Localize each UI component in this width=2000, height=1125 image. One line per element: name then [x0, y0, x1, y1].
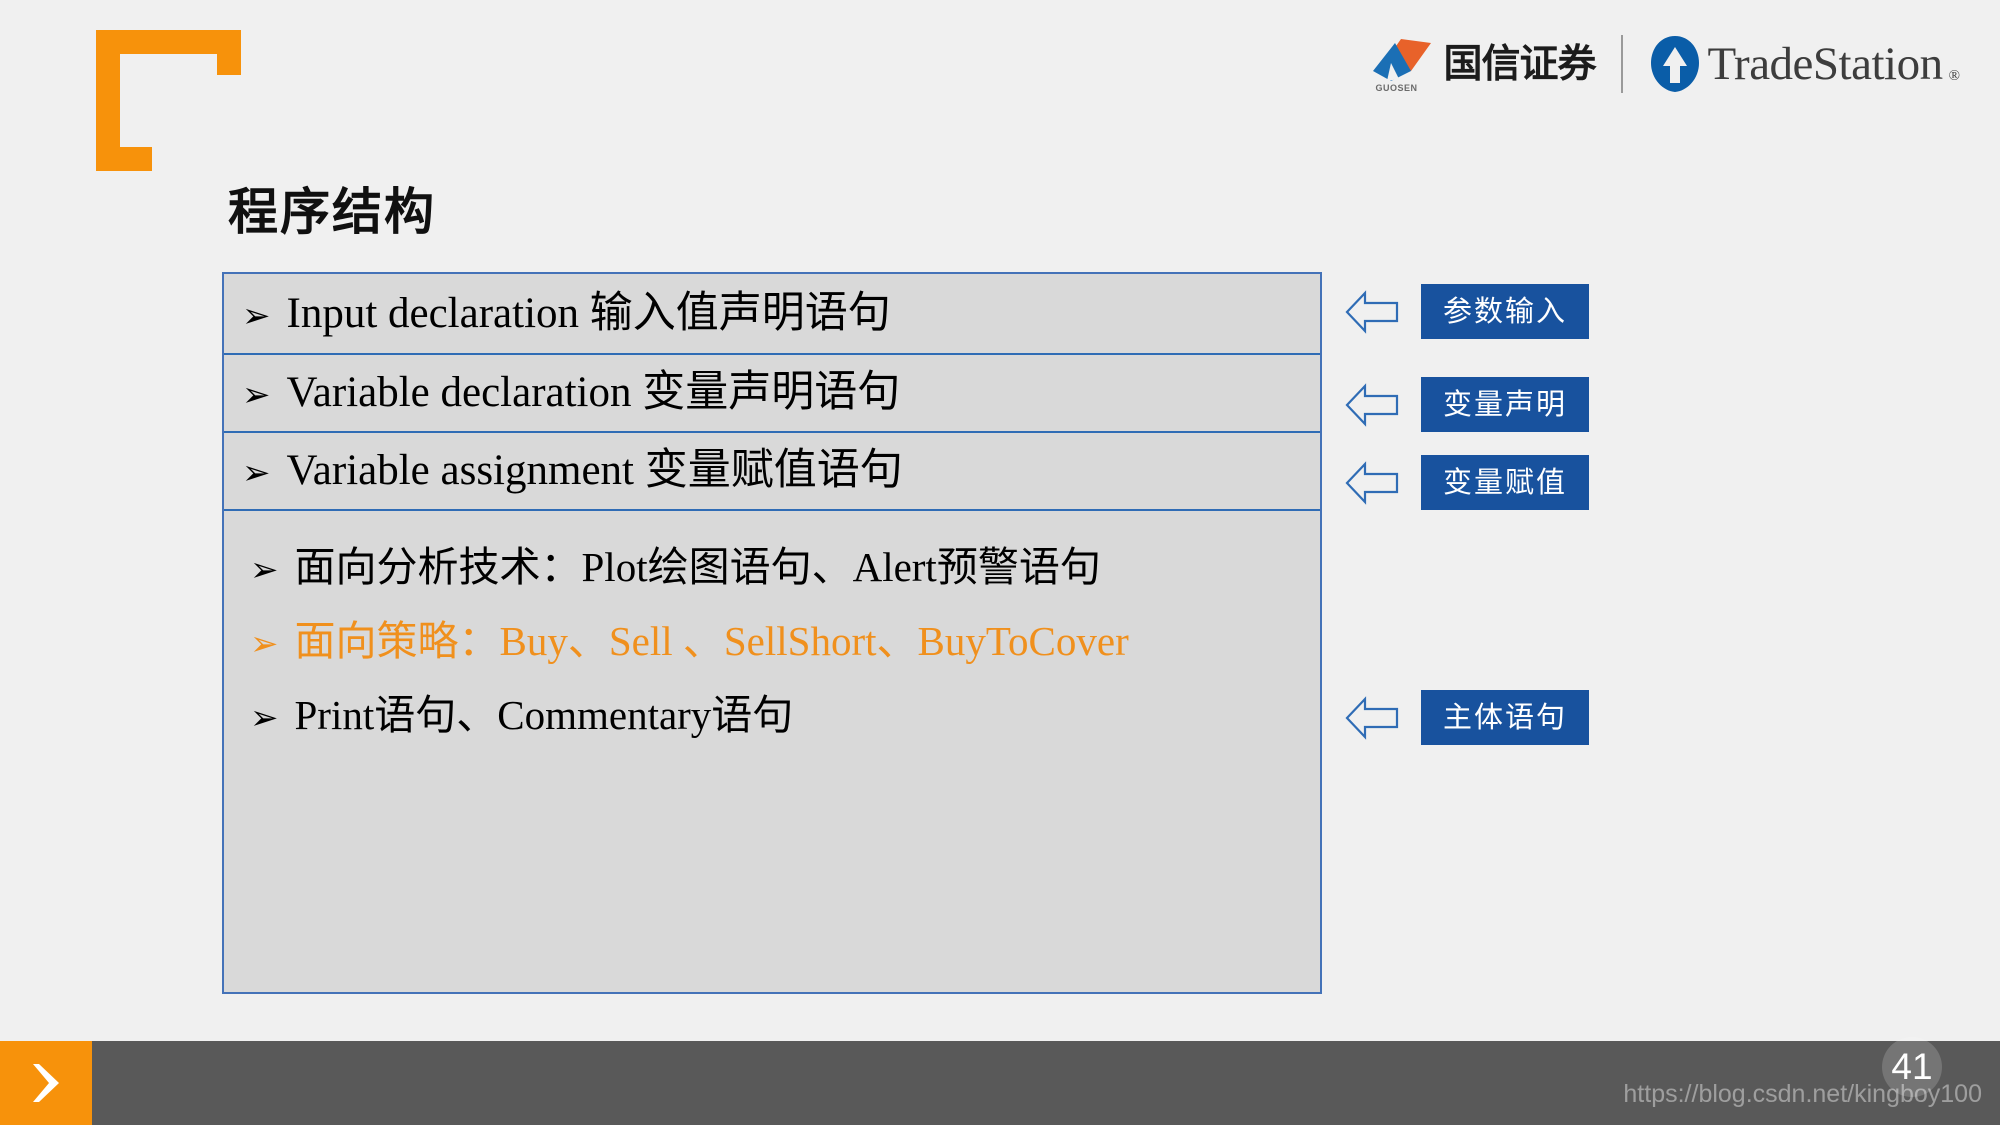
tradestation-logo: TradeStation ®: [1649, 35, 1960, 93]
body-line-label-strategy-commands: Buy、Sell 、SellShort、BuyToCover: [500, 607, 1129, 667]
guosen-logo: GUOSEN 国信证券: [1371, 37, 1595, 91]
slide-root: GUOSEN 国信证券 TradeStation ® 程序结构 ➢ Input …: [0, 0, 2000, 1125]
arrow-bullet-icon: ➢: [242, 299, 271, 333]
guosen-sub-label: GUOSEN: [1375, 83, 1417, 93]
left-arrow-icon: [1345, 382, 1399, 428]
left-arrow-icon: [1345, 460, 1399, 506]
callout-label: 参数输入: [1421, 284, 1589, 339]
arrow-bullet-icon: ➢: [242, 456, 271, 490]
callout-variable-assignment: 变量赋值: [1345, 455, 1589, 510]
body-line-strategy: ➢ 面向策略： Buy、Sell 、SellShort、BuyToCover: [242, 607, 1320, 667]
callout-parameter-input: 参数输入: [1345, 284, 1589, 339]
left-arrow-icon: [1345, 695, 1399, 741]
callout-label: 变量声明: [1421, 377, 1589, 432]
body-line-label-strategy: 面向策略：: [295, 607, 500, 667]
bracket-top-stub: [217, 30, 241, 75]
corner-bracket-decoration: [96, 30, 241, 171]
body-line-label: 面向分析技术：Plot绘图语句、Alert预警语句: [295, 533, 1101, 593]
callout-label: 主体语句: [1421, 690, 1589, 745]
body-line-label: Print语句、Commentary语句: [295, 681, 794, 741]
logo-divider: [1621, 35, 1623, 93]
arrow-bullet-icon: ➢: [250, 553, 279, 587]
footer-logo-block: [0, 1041, 92, 1125]
structure-row-variable-assignment: ➢ Variable assignment 变量赋值语句: [224, 433, 1320, 511]
logo-bar: GUOSEN 国信证券 TradeStation ®: [1371, 30, 1960, 98]
tradestation-mark-icon: [1649, 35, 1701, 93]
callout-main-statements: 主体语句: [1345, 690, 1589, 745]
guosen-diamond-icon: GUOSEN: [1371, 37, 1433, 91]
bracket-bottom-stub: [96, 147, 152, 171]
callout-label: 变量赋值: [1421, 455, 1589, 510]
arrow-bullet-icon: ➢: [250, 701, 279, 735]
structure-row-input-declaration: ➢ Input declaration 输入值声明语句: [224, 274, 1320, 355]
structure-row-label: Variable declaration 变量声明语句: [287, 369, 901, 416]
callout-variable-declaration: 变量声明: [1345, 377, 1589, 432]
program-structure-panel: ➢ Input declaration 输入值声明语句 ➢ Variable d…: [222, 272, 1322, 994]
registered-trademark-icon: ®: [1949, 68, 1960, 93]
body-line-analysis: ➢ 面向分析技术：Plot绘图语句、Alert预警语句: [242, 533, 1320, 593]
structure-row-label: Input declaration 输入值声明语句: [287, 290, 891, 337]
arrow-bullet-icon: ➢: [242, 378, 271, 412]
guosen-name-label: 国信证券: [1443, 45, 1595, 84]
footer-bar: 41 https://blog.csdn.net/kingboy100: [0, 1041, 2000, 1125]
chevron-right-icon: [29, 1062, 63, 1104]
body-line-print: ➢ Print语句、Commentary语句: [242, 681, 1320, 741]
tradestation-name-label: TradeStation: [1707, 41, 1942, 88]
structure-row-variable-declaration: ➢ Variable declaration 变量声明语句: [224, 355, 1320, 433]
structure-body-section: ➢ 面向分析技术：Plot绘图语句、Alert预警语句 ➢ 面向策略： Buy、…: [224, 511, 1320, 741]
left-arrow-icon: [1345, 289, 1399, 335]
watermark-url: https://blog.csdn.net/kingboy100: [1623, 1080, 1982, 1109]
page-title: 程序结构: [228, 172, 436, 244]
structure-row-label: Variable assignment 变量赋值语句: [287, 447, 903, 494]
arrow-bullet-icon: ➢: [250, 627, 279, 661]
